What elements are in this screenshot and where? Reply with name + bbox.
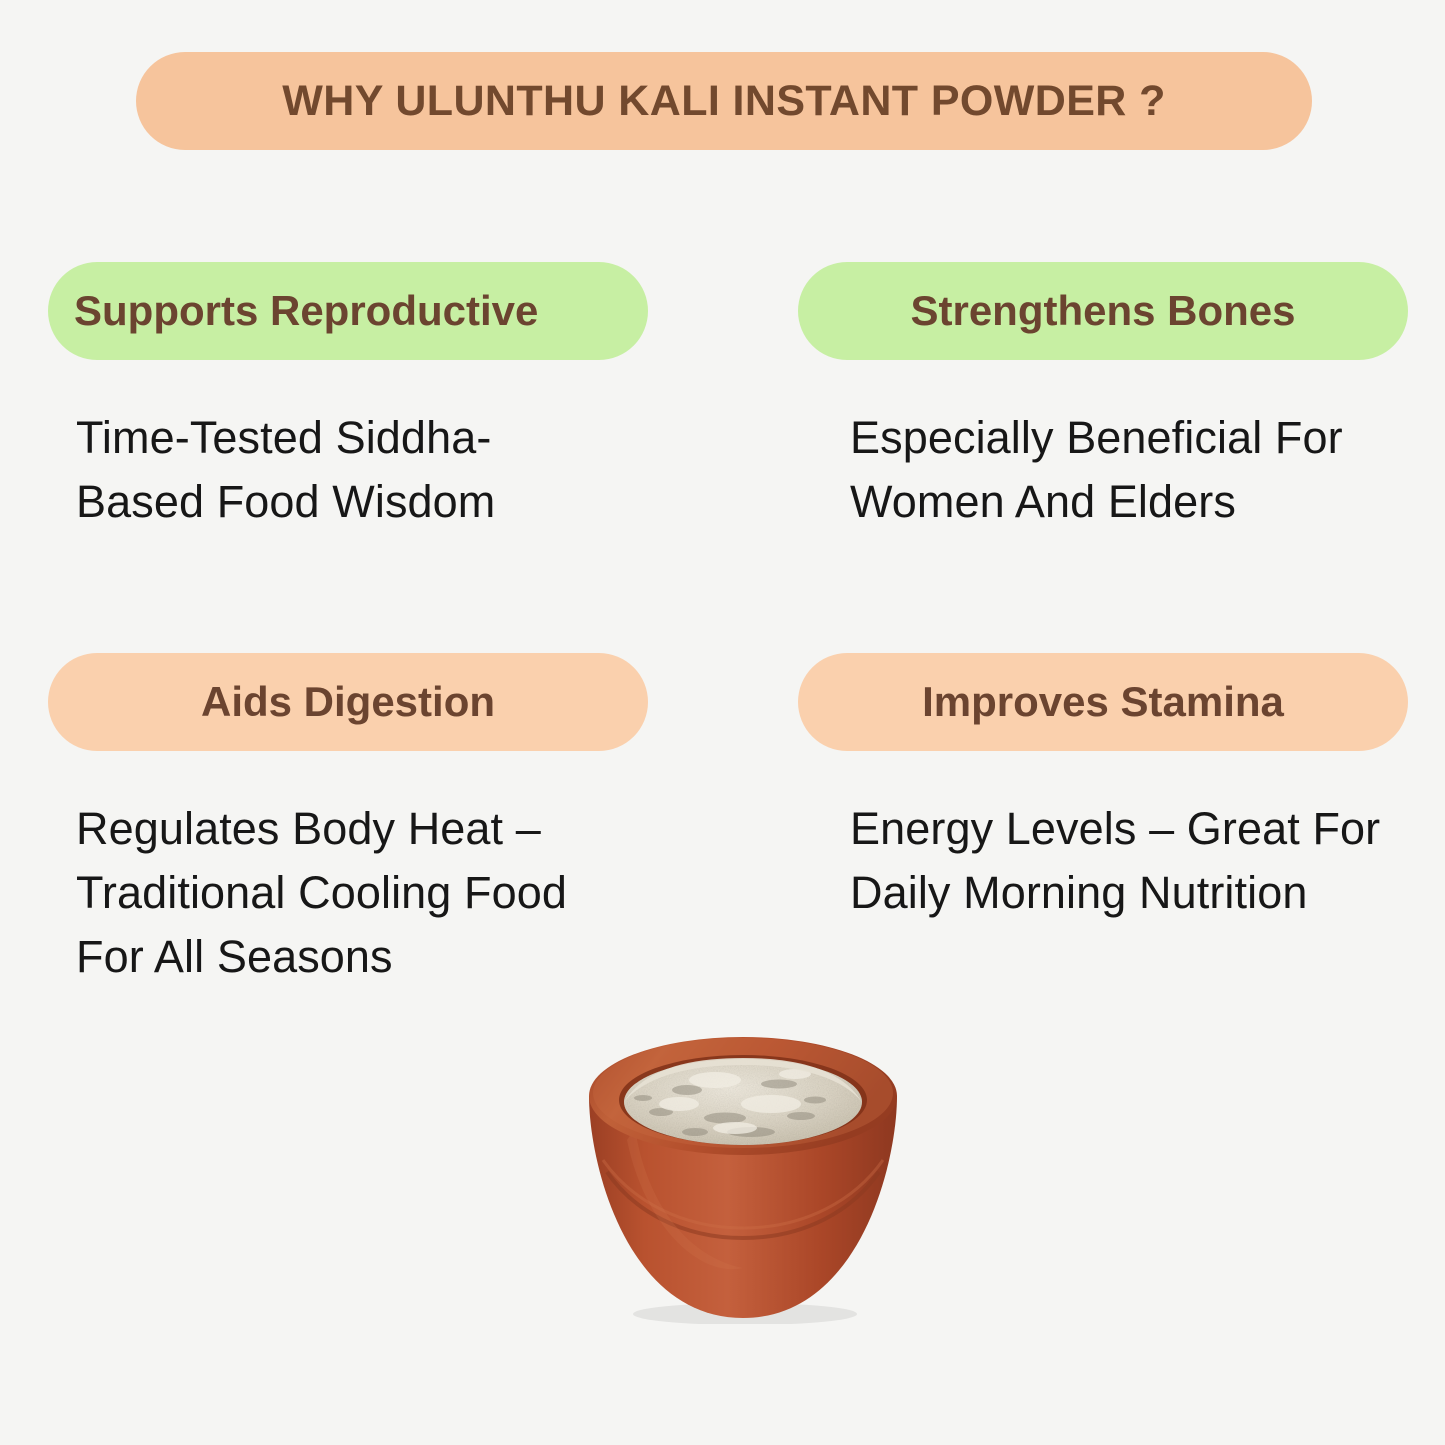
feature-badge-label: Strengthens Bones <box>824 290 1382 332</box>
feature-body-text: Regulates Body Heat – Traditional Coolin… <box>48 797 616 989</box>
infographic-page: WHY ULUNTHU KALI INSTANT POWDER ? Suppor… <box>0 0 1445 1445</box>
feature-body-text: Especially Beneficial For Women And Elde… <box>798 406 1408 534</box>
feature-badge-strengthens-bones: Strengthens Bones <box>798 262 1408 360</box>
feature-cell-aids-digestion: Aids Digestion Regulates Body Heat – Tra… <box>48 653 658 989</box>
feature-badge-supports-reproductive: Supports Reproductive <box>48 262 648 360</box>
feature-cell-supports-reproductive: Supports Reproductive Time-Tested Siddha… <box>48 262 658 534</box>
feature-badge-aids-digestion: Aids Digestion <box>48 653 648 751</box>
feature-badge-label: Improves Stamina <box>824 681 1382 723</box>
feature-body-text: Time-Tested Siddha-Based Food Wisdom <box>48 406 616 534</box>
feature-cell-improves-stamina: Improves Stamina Energy Levels – Great F… <box>798 653 1408 925</box>
feature-cell-strengthens-bones: Strengthens Bones Especially Beneficial … <box>798 262 1408 534</box>
feature-badge-label: Supports Reproductive <box>74 290 622 332</box>
feature-body-text: Energy Levels – Great For Daily Morning … <box>798 797 1408 925</box>
clay-bowl-icon <box>583 1032 903 1324</box>
feature-badge-label: Aids Digestion <box>74 681 622 723</box>
feature-badge-improves-stamina: Improves Stamina <box>798 653 1408 751</box>
product-image <box>583 1032 903 1324</box>
